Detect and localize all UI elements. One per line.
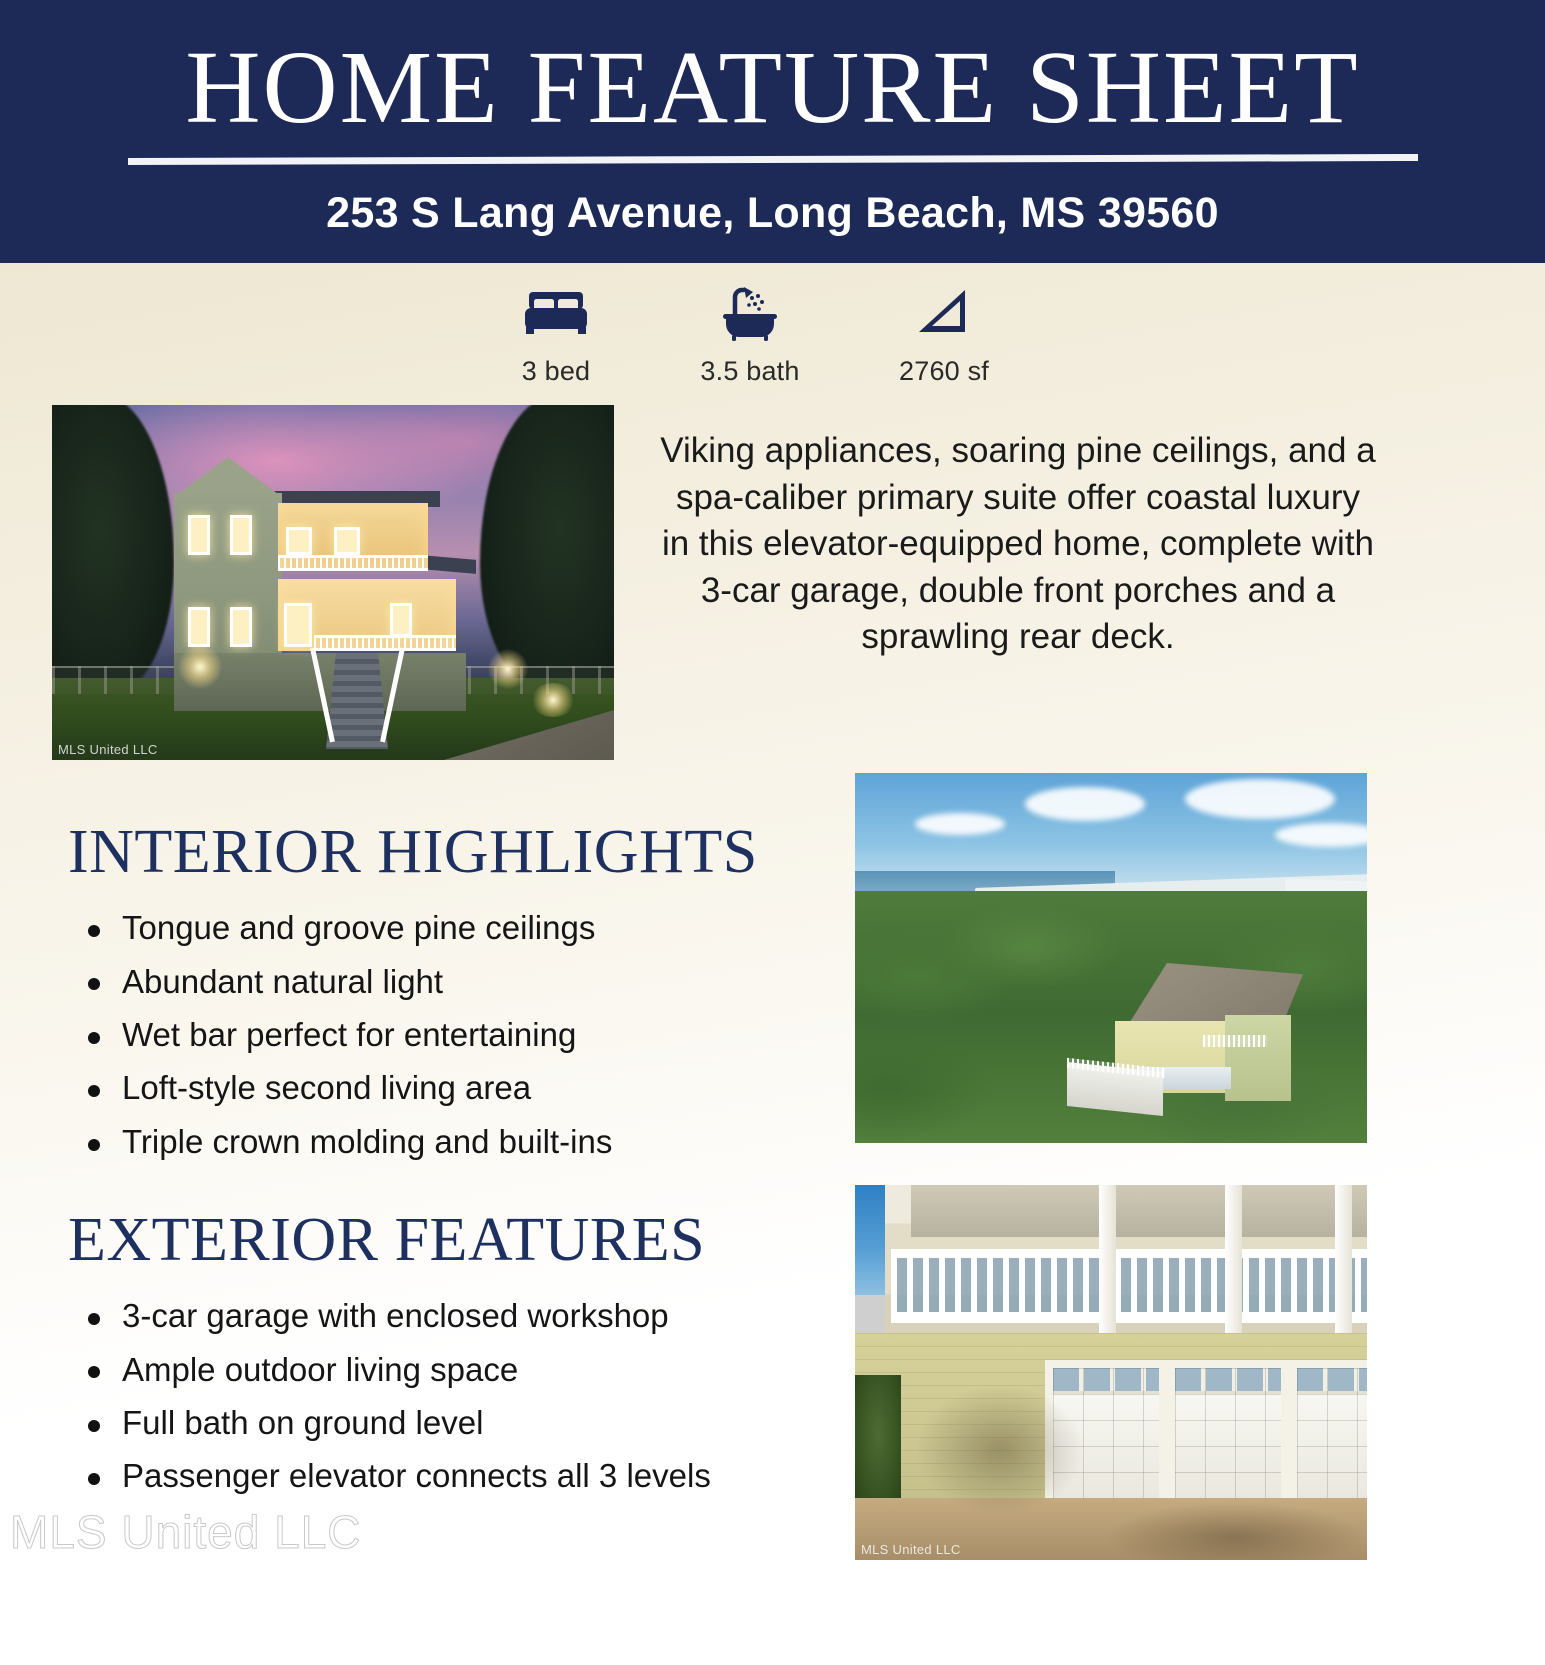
window bbox=[188, 607, 210, 647]
page-header: HOME FEATURE SHEET 253 S Lang Avenue, Lo… bbox=[0, 0, 1545, 263]
siding-side bbox=[1225, 1015, 1291, 1101]
property-description: Viking appliances, soaring pine ceilings… bbox=[660, 428, 1376, 661]
balcony-railing bbox=[1203, 1035, 1267, 1047]
list-item: Tongue and groove pine ceilings bbox=[68, 901, 838, 954]
porch-railing bbox=[891, 1249, 1367, 1323]
window bbox=[390, 603, 412, 637]
list-item: Passenger elevator connects all 3 levels bbox=[68, 1449, 868, 1502]
window bbox=[334, 527, 360, 555]
garage-door bbox=[1289, 1360, 1367, 1512]
cloud bbox=[1025, 787, 1145, 821]
porch-ceiling bbox=[911, 1185, 1367, 1237]
landscape-light-glow bbox=[530, 683, 576, 717]
list-item: 3-car garage with enclosed workshop bbox=[68, 1289, 868, 1342]
porch-column bbox=[1225, 1185, 1242, 1345]
stat-bed-label: 3 bed bbox=[490, 356, 622, 387]
interior-highlights-list: Tongue and groove pine ceilings Abundant… bbox=[68, 901, 838, 1168]
garage-door bbox=[1167, 1360, 1289, 1512]
list-item: Loft-style second living area bbox=[68, 1061, 838, 1114]
list-item: Ample outdoor living space bbox=[68, 1343, 868, 1396]
stat-sqft: 2760 sf bbox=[878, 282, 1010, 387]
cloud bbox=[915, 813, 1005, 835]
aerial-rear-deck-photo bbox=[855, 773, 1367, 1143]
window bbox=[188, 515, 210, 555]
window bbox=[230, 515, 252, 555]
tree-shadow bbox=[915, 1385, 1085, 1515]
bed-icon bbox=[490, 282, 622, 344]
list-item: Triple crown molding and built-ins bbox=[68, 1115, 838, 1168]
property-address: 253 S Lang Avenue, Long Beach, MS 39560 bbox=[0, 189, 1545, 238]
lower-porch-railing bbox=[314, 635, 456, 651]
cloud bbox=[1185, 779, 1335, 819]
page-title: HOME FEATURE SHEET bbox=[0, 0, 1545, 140]
list-item: Wet bar perfect for entertaining bbox=[68, 1008, 838, 1061]
three-car-garage-photo: MLS United LLC bbox=[855, 1185, 1367, 1560]
photo-watermark: MLS United LLC bbox=[861, 1542, 961, 1557]
interior-highlights-section: INTERIOR HIGHLIGHTS Tongue and groove pi… bbox=[68, 820, 838, 1168]
list-item: Full bath on ground level bbox=[68, 1396, 868, 1449]
exterior-features-section: EXTERIOR FEATURES 3-car garage with encl… bbox=[68, 1208, 868, 1503]
subject-house-aerial bbox=[1075, 963, 1315, 1113]
interior-highlights-title: INTERIOR HIGHLIGHTS bbox=[68, 820, 838, 885]
triangle-ruler-icon bbox=[878, 282, 1010, 344]
front-staircase bbox=[326, 653, 388, 749]
property-stats-row: 3 bed 3.5 bath 2760 sf bbox=[490, 282, 1010, 392]
exterior-features-list: 3-car garage with enclosed workshop Ampl… bbox=[68, 1289, 868, 1503]
upper-porch-railing bbox=[278, 555, 428, 571]
stat-sqft-label: 2760 sf bbox=[878, 356, 1010, 387]
garage-door-panels bbox=[1175, 1368, 1281, 1504]
garage-door-panels bbox=[1297, 1368, 1367, 1504]
exterior-features-title: EXTERIOR FEATURES bbox=[68, 1208, 868, 1273]
stat-bath-label: 3.5 bath bbox=[684, 356, 816, 387]
porch-light-glow bbox=[178, 645, 222, 689]
page-watermark: MLS United LLC bbox=[10, 1505, 362, 1559]
porch-light-glow bbox=[488, 649, 528, 689]
stat-bath: 3.5 bath bbox=[684, 282, 816, 387]
window bbox=[230, 607, 252, 647]
bathtub-shower-icon bbox=[684, 282, 816, 344]
header-divider bbox=[128, 154, 1418, 165]
photo-watermark: MLS United LLC bbox=[58, 742, 158, 757]
porch-column bbox=[1099, 1185, 1116, 1345]
gable bbox=[174, 457, 282, 497]
window bbox=[286, 527, 312, 555]
front-door bbox=[284, 603, 312, 647]
list-item: Abundant natural light bbox=[68, 955, 838, 1008]
front-exterior-twilight-photo: MLS United LLC bbox=[52, 405, 614, 760]
porch-column bbox=[1335, 1185, 1352, 1345]
stat-bed: 3 bed bbox=[490, 282, 622, 387]
